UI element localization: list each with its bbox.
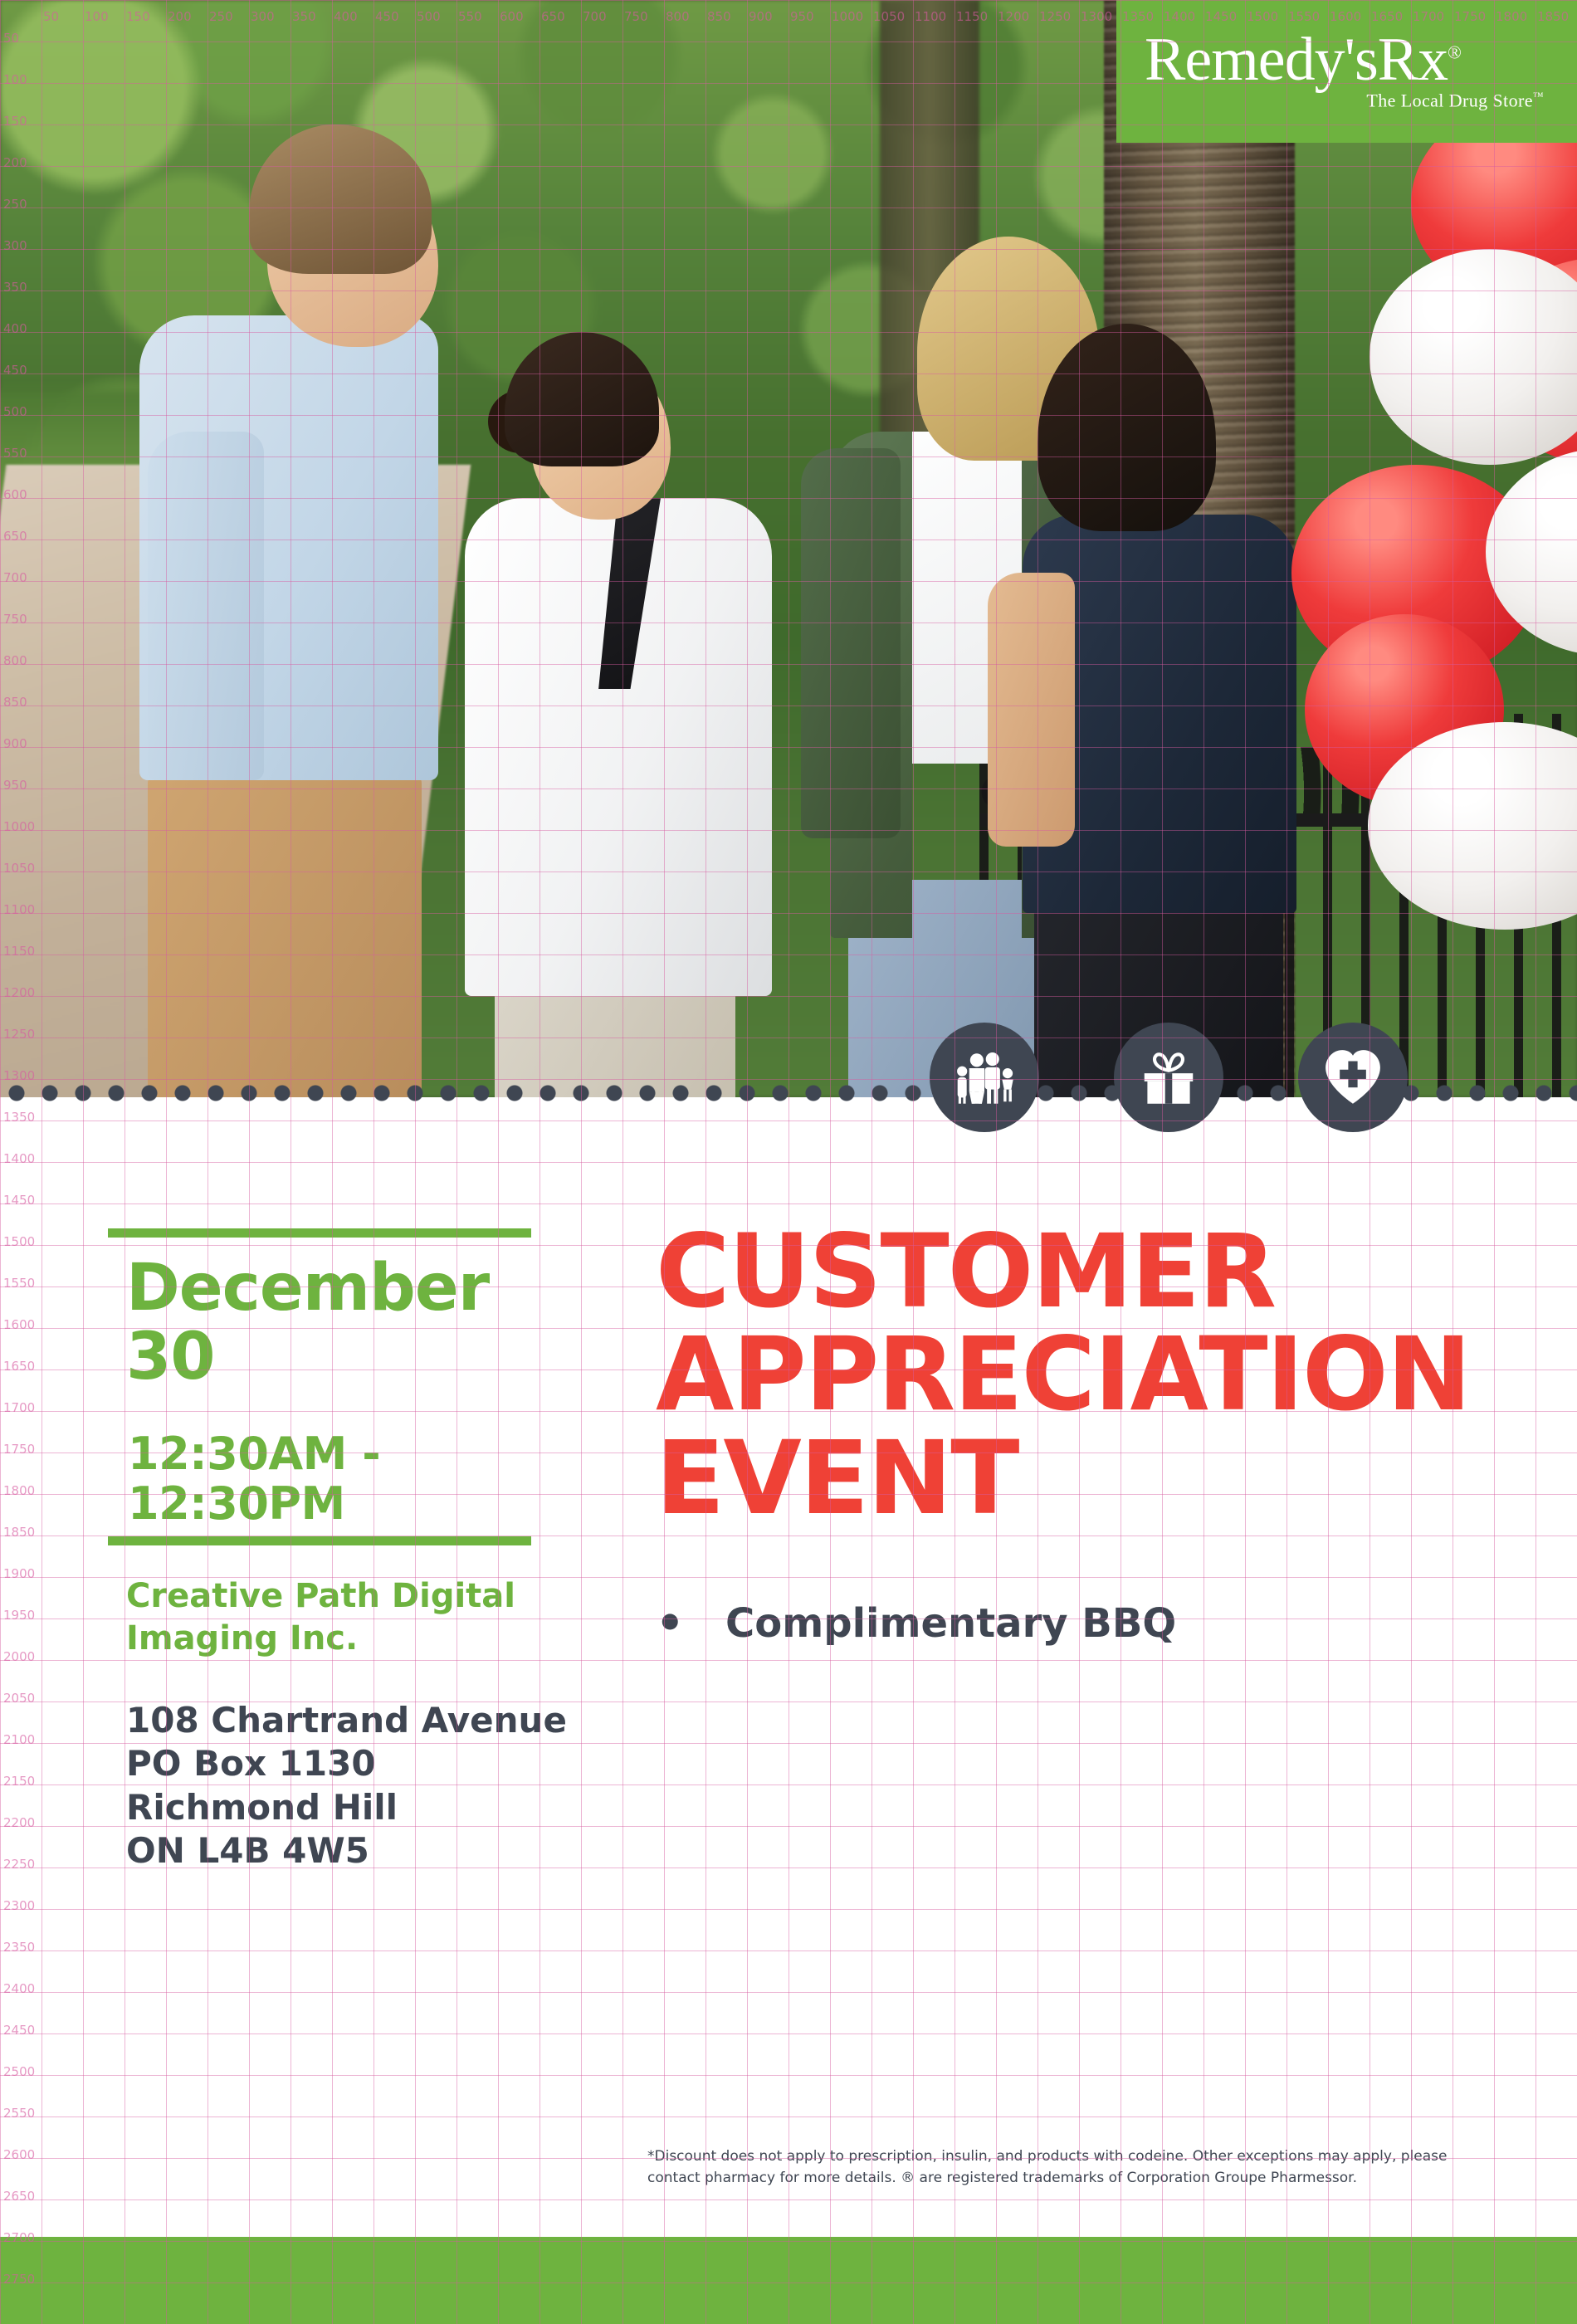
ruler-label-y: 1500 xyxy=(3,1234,35,1249)
heart-plus-icon xyxy=(1321,1045,1385,1110)
event-headline-column: CUSTOMER APPRECIATION EVENT Complimentar… xyxy=(656,1220,1502,1650)
list-item: Complimentary BBQ xyxy=(656,1598,1502,1649)
registered-mark-icon: ® xyxy=(1448,41,1461,62)
ruler-label-y: 1450 xyxy=(3,1193,35,1208)
page-title: CUSTOMER APPRECIATION EVENT xyxy=(656,1220,1502,1530)
event-time: 12:30AM - 12:30PM xyxy=(108,1429,573,1528)
trademark-mark-icon: ™ xyxy=(1533,90,1544,102)
ruler-label-y: 1800 xyxy=(3,1483,35,1498)
ruler-label-y: 2650 xyxy=(3,2189,35,2204)
brand-logo-text: Remedy'sRx xyxy=(1145,26,1448,94)
ruler-label-y: 1700 xyxy=(3,1400,35,1415)
ruler-label-y: 2550 xyxy=(3,2106,35,2121)
person-woman-arm xyxy=(801,448,901,838)
ruler-label-y: 2300 xyxy=(3,1898,35,1913)
person-customer-arm xyxy=(988,573,1075,847)
ruler-label-y: 1550 xyxy=(3,1276,35,1291)
footer-green-bar xyxy=(0,2237,1577,2324)
brand-tagline-text: The Local Drug Store xyxy=(1366,90,1532,110)
ruler-label-y: 2600 xyxy=(3,2147,35,2162)
hero-photo xyxy=(0,0,1577,1097)
divider-rule-top xyxy=(108,1228,531,1238)
ruler-label-y: 2100 xyxy=(3,1732,35,1747)
ruler-label-y: 1900 xyxy=(3,1566,35,1581)
organization-name: Creative Path Digital Imaging Inc. xyxy=(108,1575,573,1659)
divider-rule-bottom xyxy=(108,1536,531,1545)
ruler-label-y: 2200 xyxy=(3,1815,35,1830)
ruler-label-y: 2150 xyxy=(3,1774,35,1789)
brand-logo-plate: Remedy'sRx® The Local Drug Store™ xyxy=(1116,0,1577,143)
ruler-label-y: 2400 xyxy=(3,1981,35,1996)
family-icon xyxy=(952,1045,1017,1110)
ruler-label-y: 1650 xyxy=(3,1359,35,1374)
ruler-label-y: 2250 xyxy=(3,1857,35,1872)
venue-address: 108 Chartrand Avenue PO Box 1130 Richmon… xyxy=(108,1699,573,1873)
event-date: December 30 xyxy=(108,1254,573,1391)
event-details-column: December 30 12:30AM - 12:30PM Creative P… xyxy=(108,1228,573,1873)
ruler-label-y: 1600 xyxy=(3,1317,35,1332)
ruler-label-y: 1950 xyxy=(3,1608,35,1623)
ruler-label-y: 2000 xyxy=(3,1649,35,1664)
badge-gift xyxy=(1114,1023,1223,1132)
gift-icon xyxy=(1136,1045,1201,1110)
ruler-label-y: 1750 xyxy=(3,1442,35,1457)
ruler-label-y: 1400 xyxy=(3,1151,35,1166)
badge-health xyxy=(1298,1023,1408,1132)
poster-canvas: Remedy'sRx® The Local Drug Store™ xyxy=(0,0,1577,2324)
badge-family xyxy=(930,1023,1039,1132)
ruler-label-y: 1350 xyxy=(3,1110,35,1125)
event-feature-list: Complimentary BBQ xyxy=(656,1598,1502,1649)
brand-logo-tagline: The Local Drug Store™ xyxy=(1366,90,1544,111)
person-man-arm xyxy=(148,432,264,780)
ruler-label-y: 2050 xyxy=(3,1691,35,1706)
brand-logo-wordmark: Remedy'sRx® xyxy=(1145,32,1461,88)
legal-disclaimer: *Discount does not apply to prescription… xyxy=(647,2146,1486,2190)
person-man-trousers xyxy=(148,772,422,1097)
ruler-label-y: 2450 xyxy=(3,2023,35,2038)
ruler-label-y: 2500 xyxy=(3,2064,35,2079)
ruler-label-y: 1850 xyxy=(3,1525,35,1540)
ruler-label-y: 2350 xyxy=(3,1940,35,1955)
